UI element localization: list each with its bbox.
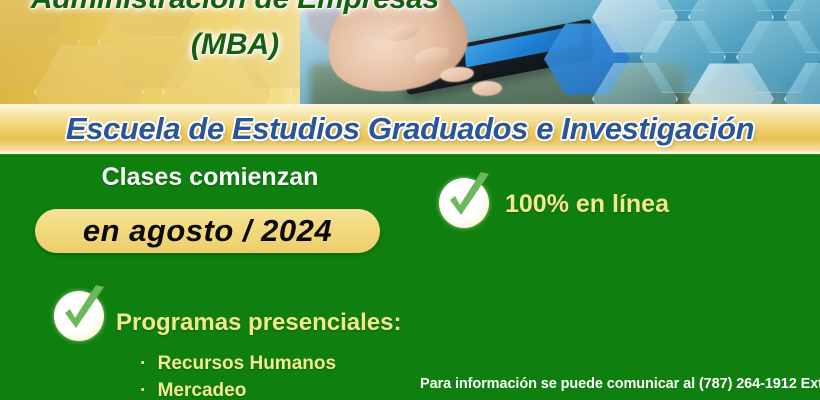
program-title-line1: Administración de Empresas — [0, 0, 470, 16]
school-name-band: Escuela de Estudios Graduados e Investig… — [0, 104, 820, 154]
content-area: Clases comienzan en agosto / 2024 Progra… — [0, 154, 820, 400]
list-item: · Mercadeo — [140, 377, 336, 400]
band-divider — [0, 152, 820, 155]
presencial-heading-row: Programas presenciales: — [52, 285, 401, 341]
presencial-heading: Programas presenciales: — [116, 309, 401, 337]
list-item-label: Mercadeo — [158, 380, 247, 400]
program-title-line2: (MBA) — [0, 28, 470, 62]
checkmark-icon — [437, 172, 493, 228]
bullet-icon: · — [140, 353, 146, 374]
classes-start-kicker: Clases comienzan — [0, 163, 420, 192]
contact-info: Para información se puede comunicar al (… — [420, 376, 820, 392]
header-banner: Administración de Empresas (MBA) — [0, 0, 820, 104]
checkmark-icon — [52, 285, 108, 341]
presencial-program-list: · Recursos Humanos · Mercadeo — [140, 350, 336, 400]
start-date-text: en agosto / 2024 — [83, 213, 332, 249]
list-item-label: Recursos Humanos — [158, 353, 336, 374]
right-column: 100% en línea · Contabilidad · Sistemas … — [420, 154, 820, 400]
poster-flyer: Administración de Empresas (MBA) Escuela… — [0, 0, 820, 400]
list-item: · Recursos Humanos — [140, 350, 336, 377]
online-heading-row: 100% en línea — [437, 172, 669, 228]
left-column: Clases comienzan en agosto / 2024 Progra… — [0, 154, 420, 400]
bullet-icon: · — [140, 380, 146, 400]
school-name-text: Escuela de Estudios Graduados e Investig… — [0, 104, 820, 154]
online-heading: 100% en línea — [505, 190, 669, 219]
start-date-badge: en agosto / 2024 — [35, 209, 380, 253]
